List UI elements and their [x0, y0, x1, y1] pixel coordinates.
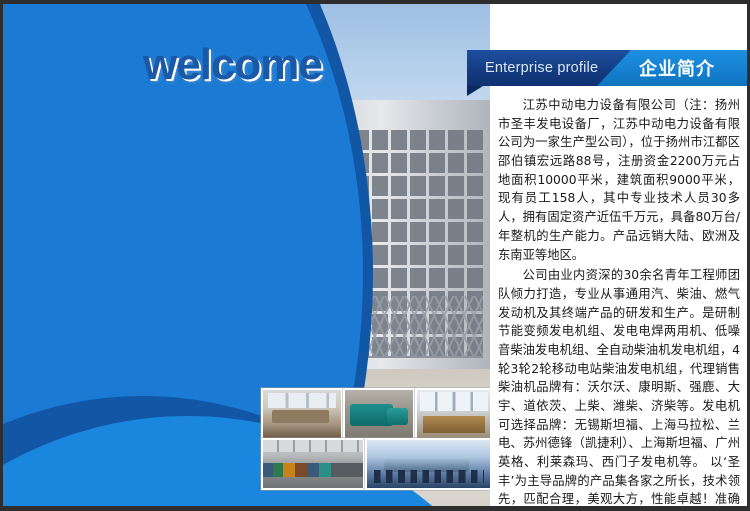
ribbon-label-english: Enterprise profile: [485, 50, 598, 86]
profile-paragraph-2: 公司由业内资深的30余名青年工程师团队倾力打造，专业从事通用汽、柴油、燃气发动机…: [498, 266, 740, 506]
ribbon-label-chinese: 企业简介: [639, 50, 715, 86]
photo-generator-workshop[interactable]: [343, 388, 415, 440]
photo-conference-hall[interactable]: [365, 438, 490, 490]
profile-body: 江苏中动电力设备有限公司（注：扬州市圣丰发电设备厂，江苏中动电力设备有限公司为一…: [498, 96, 740, 506]
photo-gallery: [261, 388, 489, 486]
section-ribbon: Enterprise profile 企业简介: [467, 50, 747, 86]
profile-paragraph-1: 江苏中动电力设备有限公司（注：扬州市圣丰发电设备厂，江苏中动电力设备有限公司为一…: [498, 96, 740, 264]
welcome-heading: welcome: [143, 40, 322, 90]
photo-meeting-room[interactable]: [261, 388, 343, 440]
profile-panel: Enterprise profile 企业简介 江苏中动电力设备有限公司（注：扬…: [490, 4, 747, 506]
photo-office-interior[interactable]: [415, 388, 490, 440]
page-canvas: 中动电力 江苏中动电力设备有限公司 Jiangsu Zhongdong Powe…: [3, 4, 747, 506]
photo-generator-warehouse[interactable]: [261, 438, 365, 490]
company-profile-page: 中动电力 江苏中动电力设备有限公司 Jiangsu Zhongdong Powe…: [0, 0, 750, 511]
hero-image-panel: 中动电力 江苏中动电力设备有限公司 Jiangsu Zhongdong Powe…: [3, 4, 490, 506]
